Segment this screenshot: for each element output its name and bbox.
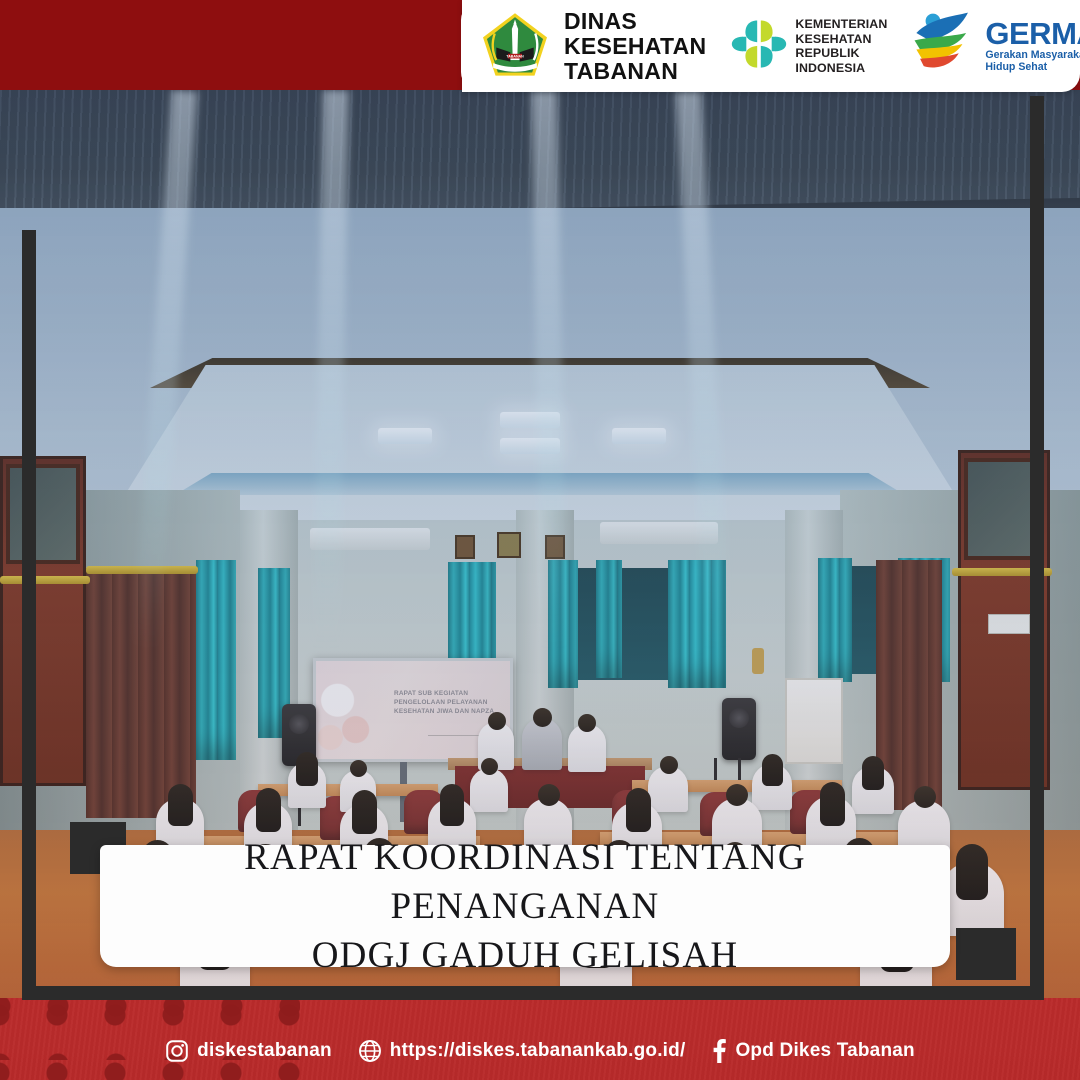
kemenkes-flower-icon: [730, 15, 788, 78]
instagram-label: diskestabanan: [197, 1040, 332, 1062]
facebook-icon: [711, 1039, 727, 1063]
germas-subtitle-2: Hidup Sehat: [985, 61, 1080, 74]
facebook-label: Opd Dikes Tabanan: [735, 1040, 914, 1062]
germas-subtitle-1: Gerakan Masyarakat: [985, 49, 1080, 62]
kemenkes-logo-block: KEMENTERIAN KESEHATAN REPUBLIK INDONESIA: [730, 15, 887, 78]
germas-title: GERMAS: [985, 19, 1080, 49]
website-label: https://diskes.tabanankab.go.id/: [390, 1040, 686, 1062]
poster-title: RAPAT KOORDINASI TENTANG PENANGANAN ODGJ…: [100, 833, 950, 980]
dinas-line-1: DINAS: [564, 9, 706, 34]
dinas-line-3: TABANAN: [564, 59, 706, 84]
frame-line-left: [22, 230, 36, 1000]
frame-line-right: [1030, 96, 1044, 1000]
kemenkes-line-1: KEMENTERIAN: [795, 17, 887, 32]
logo-row: TABANAN DINAS KESEHATAN TABANAN: [462, 0, 1080, 92]
title-line-2: ODGJ GADUH GELISAH: [312, 935, 739, 976]
kemenkes-line-3: REPUBLIK: [795, 46, 887, 61]
poster-canvas: RAPAT SUB KEGIATAN PENGELOLAAN PELAYANAN…: [0, 0, 1080, 1080]
tabanan-emblem-icon: TABANAN: [476, 7, 554, 85]
facebook-page[interactable]: Opd Dikes Tabanan: [711, 1039, 914, 1063]
dinas-kesehatan-wordmark: DINAS KESEHATAN TABANAN: [564, 9, 706, 84]
kemenkes-wordmark: KEMENTERIAN KESEHATAN REPUBLIK INDONESIA: [795, 17, 887, 75]
frame-line-bottom-left: [22, 986, 332, 1000]
emblem-banner-label: TABANAN: [506, 55, 524, 59]
globe-icon: [358, 1039, 382, 1063]
germas-wordmark: GERMAS Gerakan Masyarakat Hidup Sehat: [985, 19, 1080, 74]
instagram-handle[interactable]: diskestabanan: [165, 1039, 332, 1063]
germas-logo-block: GERMAS Gerakan Masyarakat Hidup Sehat: [907, 9, 1080, 84]
kemenkes-line-4: INDONESIA: [795, 61, 887, 76]
frame-line-bottom-right: [700, 986, 1044, 1000]
germas-figure-icon: [907, 9, 981, 84]
kemenkes-line-2: KESEHATAN: [795, 32, 887, 47]
frame-line-bottom-middle: [332, 986, 700, 1000]
title-banner: RAPAT KOORDINASI TENTANG PENANGANAN ODGJ…: [100, 845, 950, 967]
square-accent-right: [956, 928, 1016, 980]
instagram-icon: [165, 1039, 189, 1063]
title-line-1: RAPAT KOORDINASI TENTANG PENANGANAN: [244, 837, 806, 927]
footer-social-bar: diskestabanan https://diskes.tabanankab.…: [0, 1022, 1080, 1080]
dinas-line-2: KESEHATAN: [564, 34, 706, 59]
website-link[interactable]: https://diskes.tabanankab.go.id/: [358, 1039, 686, 1063]
